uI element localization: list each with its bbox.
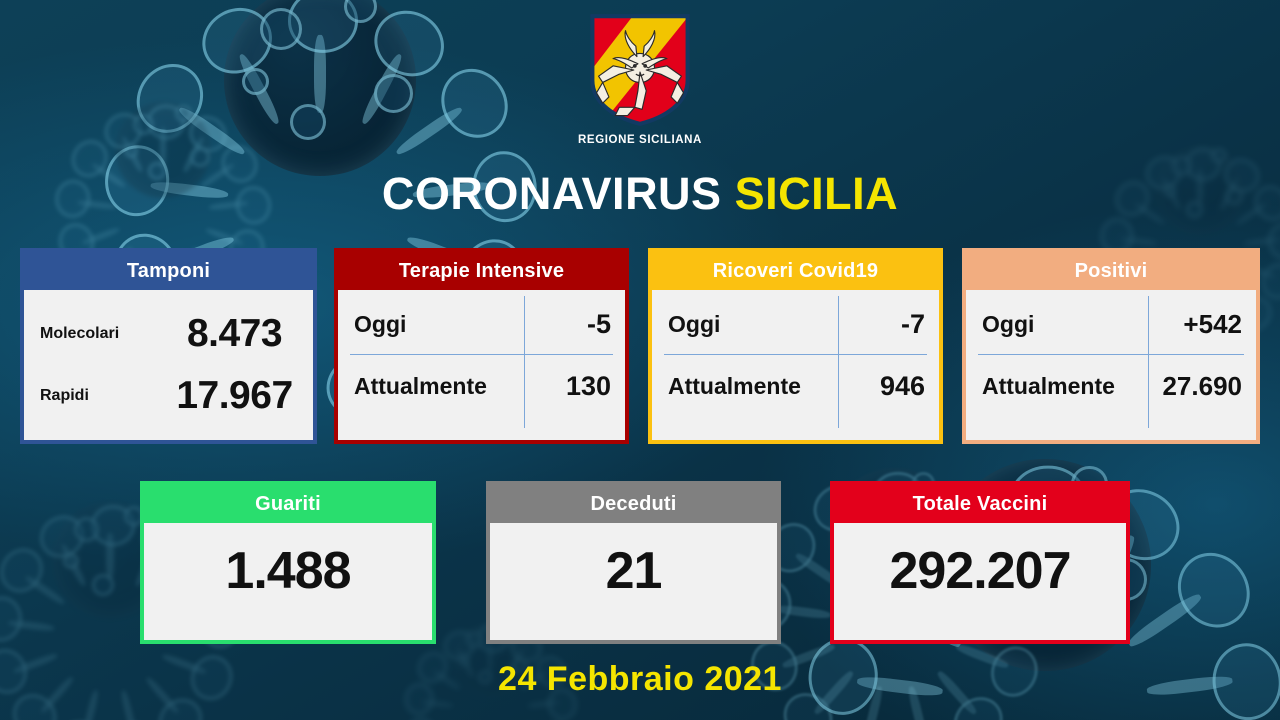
deceduti-value: 21: [490, 523, 777, 619]
ricoveri-current-label: Attualmente: [652, 373, 801, 400]
tamponi-molecolari-value: 8.473: [156, 312, 313, 356]
ricoveri-current-value: 946: [880, 371, 925, 402]
ricoveri-today-label: Oggi: [652, 311, 720, 338]
divider-horizontal: [978, 354, 1244, 355]
card-guariti-body: 1.488: [144, 523, 432, 640]
terapie-today-value: -5: [587, 309, 611, 340]
card-tamponi-title: Tamponi: [24, 252, 313, 290]
card-totale-vaccini-title: Totale Vaccini: [834, 485, 1126, 523]
infographic-canvas: REGIONE SICILIANA CORONAVIRUS SICILIA Ta…: [0, 0, 1280, 720]
table-row: Attualmente 27.690: [966, 360, 1256, 412]
page-title: CORONAVIRUS SICILIA: [0, 168, 1280, 220]
card-positivi-title: Positivi: [966, 252, 1256, 290]
table-row: Attualmente 130: [338, 360, 625, 412]
card-guariti-title: Guariti: [144, 485, 432, 523]
terapie-current-label: Attualmente: [338, 373, 487, 400]
ricoveri-today-value: -7: [901, 309, 925, 340]
table-row: Molecolari 8.473: [24, 306, 313, 362]
sicily-trinacria-crest-icon: [588, 12, 692, 128]
crest-caption: REGIONE SICILIANA: [578, 134, 702, 146]
totale-vaccini-value: 292.207: [834, 523, 1126, 619]
terapie-current-value: 130: [566, 371, 611, 402]
title-primary: CORONAVIRUS: [382, 168, 722, 219]
header: REGIONE SICILIANA: [0, 12, 1280, 148]
table-row: Oggi -5: [338, 298, 625, 350]
positivi-today-value: +542: [1183, 309, 1242, 340]
card-deceduti-title: Deceduti: [490, 485, 777, 523]
table-row: Rapidi 17.967: [24, 368, 313, 424]
card-tamponi[interactable]: Tamponi Molecolari 8.473 Rapidi 17.967: [20, 248, 317, 444]
card-ricoveri-covid19[interactable]: Ricoveri Covid19 Oggi -7 Attualmente 946: [648, 248, 943, 444]
divider-horizontal: [350, 354, 613, 355]
card-guariti[interactable]: Guariti 1.488: [140, 481, 436, 644]
card-totale-vaccini[interactable]: Totale Vaccini 292.207: [830, 481, 1130, 644]
card-deceduti-body: 21: [490, 523, 777, 640]
terapie-today-label: Oggi: [338, 311, 406, 338]
card-terapie-intensive[interactable]: Terapie Intensive Oggi -5 Attualmente 13…: [334, 248, 629, 444]
card-ricoveri-covid19-title: Ricoveri Covid19: [652, 252, 939, 290]
card-positivi[interactable]: Positivi Oggi +542 Attualmente 27.690: [962, 248, 1260, 444]
tamponi-rapidi-value: 17.967: [156, 374, 313, 418]
positivi-today-label: Oggi: [966, 311, 1034, 338]
card-totale-vaccini-body: 292.207: [834, 523, 1126, 640]
table-row: Attualmente 946: [652, 360, 939, 412]
divider-horizontal: [664, 354, 927, 355]
card-deceduti[interactable]: Deceduti 21: [486, 481, 781, 644]
card-ricoveri-covid19-body: Oggi -7 Attualmente 946: [652, 290, 939, 440]
card-tamponi-body: Molecolari 8.473 Rapidi 17.967: [24, 290, 313, 440]
positivi-current-label: Attualmente: [966, 373, 1115, 400]
table-row: Oggi -7: [652, 298, 939, 350]
card-positivi-body: Oggi +542 Attualmente 27.690: [966, 290, 1256, 440]
guariti-value: 1.488: [144, 523, 432, 619]
table-row: Oggi +542: [966, 298, 1256, 350]
card-terapie-intensive-body: Oggi -5 Attualmente 130: [338, 290, 625, 440]
card-terapie-intensive-title: Terapie Intensive: [338, 252, 625, 290]
region-crest: REGIONE SICILIANA: [578, 12, 702, 146]
positivi-current-value: 27.690: [1162, 371, 1242, 402]
report-date: 24 Febbraio 2021: [0, 660, 1280, 699]
title-accent: SICILIA: [735, 168, 899, 219]
tamponi-rapidi-label: Rapidi: [24, 387, 156, 405]
tamponi-molecolari-label: Molecolari: [24, 325, 156, 343]
